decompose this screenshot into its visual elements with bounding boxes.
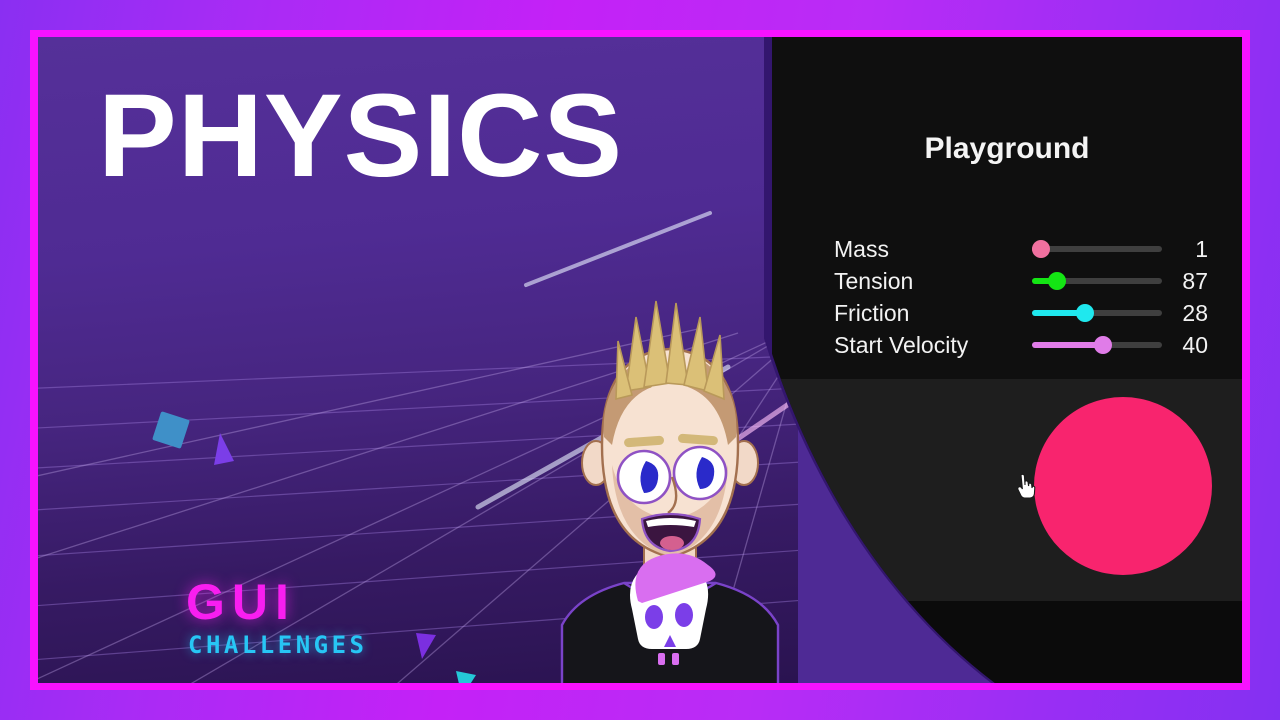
physics-demo-area[interactable] bbox=[772, 379, 1242, 601]
logo-secondary-text: CHALLENGES bbox=[188, 633, 368, 657]
pointing-hand-cursor bbox=[1015, 473, 1037, 499]
cyan-triangle bbox=[456, 671, 476, 683]
friction-slider-thumb[interactable] bbox=[1076, 304, 1094, 322]
gui-challenges-logo: GUI CHALLENGES bbox=[186, 577, 368, 657]
purple-triangle-lower bbox=[416, 633, 436, 659]
title-panel: PHYSICS GUI CHALLENGES bbox=[38, 37, 798, 683]
control-row-tension: Tension 87 bbox=[834, 265, 1234, 297]
startvelocity-slider[interactable] bbox=[1032, 335, 1162, 355]
physics-ball[interactable] bbox=[1034, 397, 1212, 575]
panel-footer bbox=[772, 601, 1242, 683]
control-value-start-velocity: 40 bbox=[1162, 332, 1226, 359]
page-title: PHYSICS bbox=[98, 75, 623, 199]
tension-slider-thumb[interactable] bbox=[1048, 272, 1066, 290]
presenter-avatar bbox=[520, 295, 798, 683]
mass-slider-thumb[interactable] bbox=[1032, 240, 1050, 258]
panel-heading: Playground bbox=[772, 132, 1242, 166]
logo-primary-text: GUI bbox=[186, 577, 368, 627]
friction-slider-fill bbox=[1032, 310, 1081, 316]
control-row-mass: Mass 1 bbox=[834, 233, 1234, 265]
control-label-mass: Mass bbox=[834, 236, 1032, 263]
content-stage: PHYSICS GUI CHALLENGES bbox=[38, 37, 1242, 683]
control-value-friction: 28 bbox=[1162, 300, 1226, 327]
purple-triangle-upper bbox=[214, 433, 234, 465]
tension-slider[interactable] bbox=[1032, 271, 1162, 291]
startvelocity-slider-thumb[interactable] bbox=[1094, 336, 1112, 354]
friction-slider[interactable] bbox=[1032, 303, 1162, 323]
control-label-tension: Tension bbox=[834, 268, 1032, 295]
avatar-tongue bbox=[660, 536, 684, 550]
control-row-start-velocity: Start Velocity 40 bbox=[834, 329, 1234, 361]
video-frame: PHYSICS GUI CHALLENGES bbox=[0, 0, 1280, 720]
startvelocity-slider-fill bbox=[1032, 342, 1099, 348]
control-label-start-velocity: Start Velocity bbox=[834, 332, 1032, 359]
playground-panel: Playground Mass 1 Tension bbox=[772, 37, 1242, 683]
control-row-friction: Friction 28 bbox=[834, 297, 1234, 329]
mass-slider-track[interactable] bbox=[1032, 246, 1162, 252]
mass-slider[interactable] bbox=[1032, 239, 1162, 259]
control-label-friction: Friction bbox=[834, 300, 1032, 327]
slider-list: Mass 1 Tension 87 bbox=[834, 233, 1234, 361]
control-value-tension: 87 bbox=[1162, 268, 1226, 295]
blue-square bbox=[152, 411, 190, 449]
control-value-mass: 1 bbox=[1162, 236, 1226, 263]
